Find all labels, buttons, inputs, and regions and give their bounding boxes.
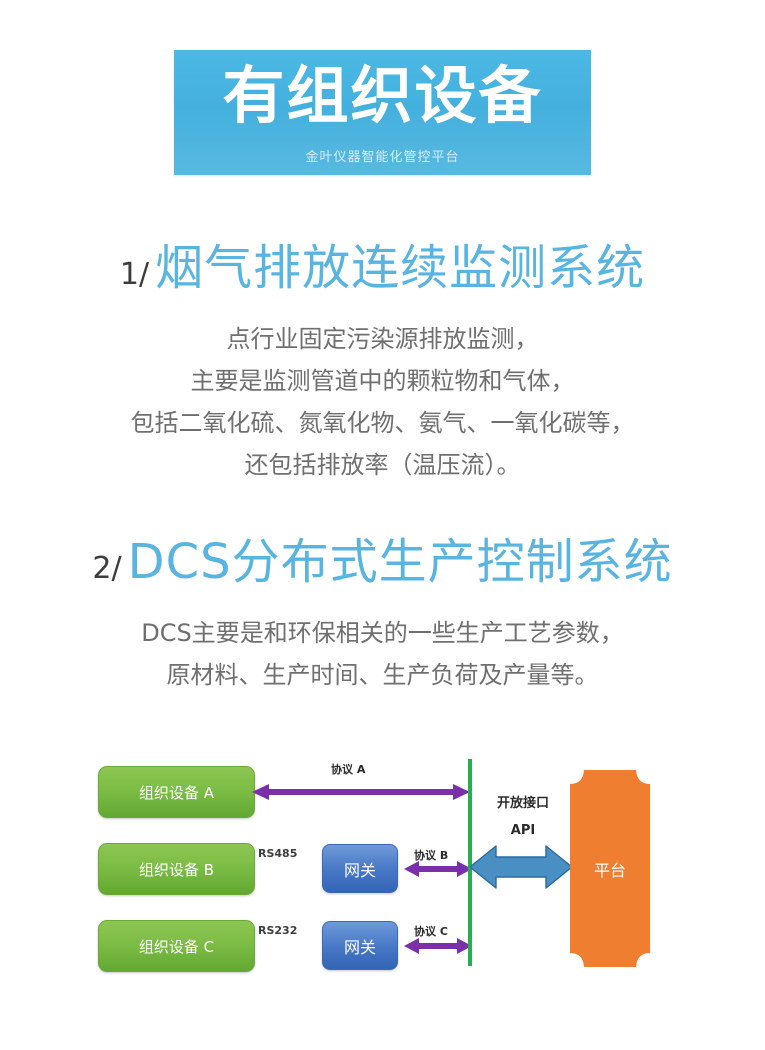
section-1-number: 1/ xyxy=(120,257,149,292)
api-label: API xyxy=(477,823,569,838)
section-2-number: 2/ xyxy=(92,551,121,586)
section-2-title: DCS分布式生产控制系统 xyxy=(128,534,673,590)
section-1-paragraph-line: 主要是监测管道中的颗粒物和气体， xyxy=(0,360,765,402)
serial-label-rs485: RS485 xyxy=(258,847,297,860)
device-box-b-label: 组织设备 B xyxy=(139,859,214,880)
section-1-paragraph-line: 包括二氧化硫、氮氧化物、氨气、一氧化碳等， xyxy=(0,402,765,444)
section-1-title: 烟气排放连续监测系统 xyxy=(155,240,645,296)
section-1-paragraph-line: 点行业固定污染源排放监测， xyxy=(0,318,765,360)
banner-title: 有组织设备 xyxy=(174,60,591,131)
architecture-diagram: 组织设备 A 组织设备 B 组织设备 C RS485 RS232 网关 网关 协… xyxy=(0,745,765,1010)
protocol-arrow-a-icon xyxy=(252,783,470,801)
banner-subtitle: 金叶仪器智能化管控平台 xyxy=(174,146,591,165)
gateway-box-b-label: 网关 xyxy=(344,857,376,881)
device-box-a-label: 组织设备 A xyxy=(139,782,214,803)
section-1-paragraph: 点行业固定污染源排放监测， 主要是监测管道中的颗粒物和气体， 包括二氧化硫、氮氧… xyxy=(0,318,765,486)
gateway-box-b: 网关 xyxy=(322,844,398,893)
gateway-box-c-label: 网关 xyxy=(344,934,376,958)
device-box-b: 组织设备 B xyxy=(98,843,255,895)
open-interface-label: 开放接口 xyxy=(477,792,569,811)
header-banner: 有组织设备 金叶仪器智能化管控平台 xyxy=(174,50,591,175)
device-box-c: 组织设备 C xyxy=(98,920,255,972)
platform-label: 平台 xyxy=(570,857,650,881)
protocol-arrow-b-icon xyxy=(404,860,472,878)
device-box-a: 组织设备 A xyxy=(98,766,255,818)
section-2-paragraph: DCS主要是和环保相关的一些生产工艺参数， 原材料、生产时间、生产负荷及产量等。 xyxy=(0,612,765,696)
section-2-paragraph-line: DCS主要是和环保相关的一些生产工艺参数， xyxy=(0,612,765,654)
serial-label-rs232: RS232 xyxy=(258,924,297,937)
device-box-c-label: 组织设备 C xyxy=(139,936,214,957)
section-1-heading: 1/烟气排放连续监测系统 xyxy=(0,228,765,298)
protocol-arrow-c-icon xyxy=(404,937,472,955)
section-2-paragraph-line: 原材料、生产时间、生产负荷及产量等。 xyxy=(0,654,765,696)
section-1-paragraph-line: 还包括排放率（温压流）。 xyxy=(0,444,765,486)
gateway-box-c: 网关 xyxy=(322,921,398,970)
protocol-label-a: 协议 A xyxy=(331,761,365,777)
section-2-heading: 2/DCS分布式生产控制系统 xyxy=(0,522,765,592)
api-arrow-icon xyxy=(470,844,572,890)
